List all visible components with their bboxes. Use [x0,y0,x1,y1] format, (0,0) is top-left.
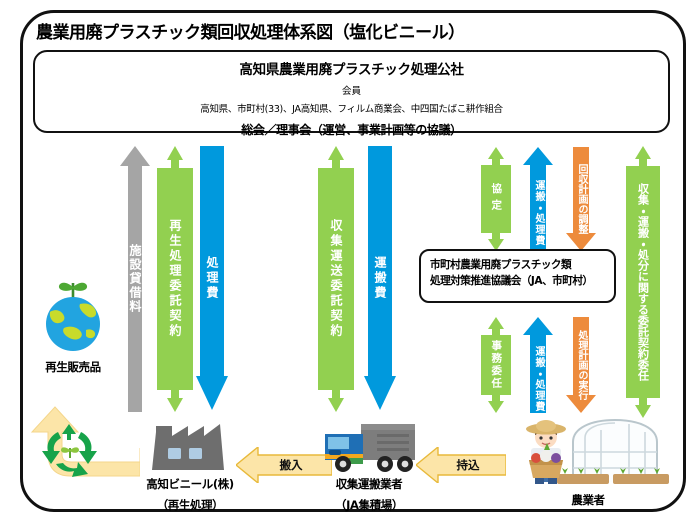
arrow-office-delegation: 事務委任 [481,317,511,413]
earth-sprout-icon [18,278,128,354]
arrow-recycle-return [18,404,140,496]
arrow-processing-fee: 処理費 [196,146,228,410]
transport-processing-fee-lower-arrow-shape [523,317,553,413]
arrow-transport-processing-fee-lower: 運搬・処理費 [523,317,553,413]
agreement-arrow-shape [481,147,511,251]
truck-icon [308,412,430,474]
arrow-agreement: 協定 [481,147,511,251]
farmer-greenhouse-icon [498,412,678,490]
entity-kochi-vinyl-line1: 高知ビニール(株) [130,476,250,493]
arrow-processing-plan-exec: 処理計画の実行 [566,317,596,413]
recycle-contract-arrow-shape [157,146,193,412]
arrow-recycle-contract: 再生処理委託契約 [157,146,193,412]
recycle-symbol-icon [36,420,106,482]
corporation-box: 高知県農業用廃プラスチック処理公社 会員 高知県、市町村(33)、JA高知県、フ… [33,50,670,133]
arrow-transport-fee: 運搬費 [364,146,396,410]
corporation-name: 高知県農業用廃プラスチック処理公社 [35,58,668,78]
entity-recycled-product: 再生販売品 [18,278,128,376]
entity-kochi-vinyl: 高知ビニール(株) （再生処理） [130,412,250,515]
corporation-member-label: 会員 [35,83,668,97]
corporation-members: 高知県、市町村(33)、JA高知県、フィルム商業会、中四国たばこ耕作組合 [35,101,668,115]
transport-fee-arrow-shape [364,146,396,410]
council-box: 市町村農業用廃プラスチック類 処理対策推進協議会（JA、市町村） [419,249,616,303]
office-delegation-arrow-shape [481,317,511,413]
council-line-2: 処理対策推進協議会（JA、市町村） [430,273,614,289]
entity-collector: 収集運搬業者 （JA集積場） [308,412,430,515]
arrow-collection-plan-adjust: 回収計画の調整 [566,147,596,251]
arrow-collect-transport-contract: 収集運送委託契約 [318,146,354,412]
entity-collector-line1: 収集運搬業者 [308,476,430,493]
collection-plan-adjust-arrow-shape [566,147,596,251]
corporation-meeting: 総会／理事会（運営、事業計画等の協議） [35,121,668,138]
council-line-1: 市町村農業用廃プラスチック類 [430,257,614,273]
entity-farmer-label: 農業者 [498,492,678,509]
arrow-entrust-contract: 収集・運搬・処分に関する委託契約委任 [626,146,660,418]
entity-farmer: 農業者 [498,412,678,509]
entity-collector-line2: （JA集積場） [308,497,430,514]
entity-kochi-vinyl-line2: （再生処理） [130,497,250,514]
collect-transport-contract-arrow-shape [318,146,354,412]
diagram-canvas: 農業用廃プラスチック類回収処理体系図（塩化ビニール） 高知県農業用廃プラスチック… [0,0,700,526]
entrust-contract-arrow-shape [626,146,660,418]
page-title: 農業用廃プラスチック類回収処理体系図（塩化ビニール） [36,18,465,43]
factory-icon [130,412,250,474]
entity-recycled-product-label: 再生販売品 [18,359,128,376]
processing-fee-arrow-shape [196,146,228,410]
arrow-transport-processing-fee-upper: 運搬・処理費 [523,147,553,251]
processing-plan-exec-arrow-shape [566,317,596,413]
transport-processing-fee-upper-arrow-shape [523,147,553,251]
